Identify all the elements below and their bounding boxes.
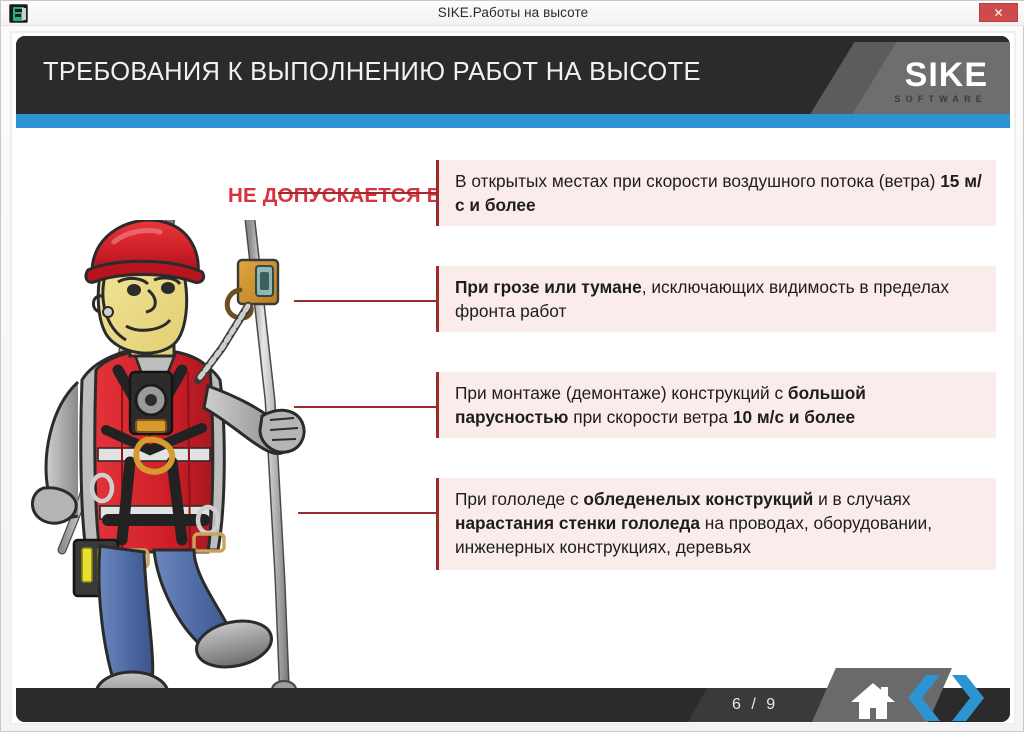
accent-bar [16,114,1010,128]
page-indicator: 6 / 9 [732,688,778,722]
callout-2: При грозе или тумане, исключающих видимо… [436,266,996,332]
window-titlebar: SIKE.Работы на высоте ✕ [1,1,1024,26]
leader-line-3 [294,406,436,408]
callout-4: При гололеде с обледенелых конструкций и… [436,478,996,570]
sike-logo: SIKE SOFTWARE [760,36,1010,114]
chevron-right-icon [952,675,984,721]
leader-line-4 [298,512,436,514]
close-button[interactable]: ✕ [979,3,1018,22]
callout-4-text: При гололеде с обледенелых конструкций и… [455,489,932,557]
leader-line-2 [294,300,436,302]
slide-stage: ТРЕБОВАНИЯ К ВЫПОЛНЕНИЮ РАБОТ НА ВЫСОТЕ … [10,31,1016,725]
leader-line-1 [278,192,436,194]
nav-arrows[interactable] [896,672,992,722]
worker-illustration-svg [22,220,432,722]
logo-wordmark: SIKE [905,58,988,92]
callout-2-text: При грозе или тумане, исключающих видимо… [455,277,949,321]
window-title: SIKE.Работы на высоте [1,1,1024,25]
slide-footer: 6 / 9 [16,688,1010,722]
chevron-left-icon [908,675,940,721]
slide-header: ТРЕБОВАНИЯ К ВЫПОЛНЕНИЮ РАБОТ НА ВЫСОТЕ … [16,36,1010,114]
callout-3-text: При монтаже (демонтаже) конструкций с бо… [455,383,866,427]
callout-3: При монтаже (демонтаже) конструкций с бо… [436,372,996,438]
slide-body: НЕ ДОПУСКАЕТСЯ ВЫПОЛНЕНИЕ РАБОТ НА ВЫСОТ… [16,128,1010,688]
slide: ТРЕБОВАНИЯ К ВЫПОЛНЕНИЮ РАБОТ НА ВЫСОТЕ … [16,36,1010,722]
page-title: ТРЕБОВАНИЯ К ВЫПОЛНЕНИЮ РАБОТ НА ВЫСОТЕ [43,58,701,87]
logo-tagline: SOFTWARE [894,94,987,104]
callout-1-text: В открытых местах при скорости воздушног… [455,171,982,215]
home-icon[interactable] [850,681,896,721]
app-window: SIKE.Работы на высоте ✕ ТРЕБОВАНИЯ К ВЫП… [0,0,1024,732]
callout-1: В открытых местах при скорости воздушног… [436,160,996,226]
worker-illustration [22,220,432,722]
